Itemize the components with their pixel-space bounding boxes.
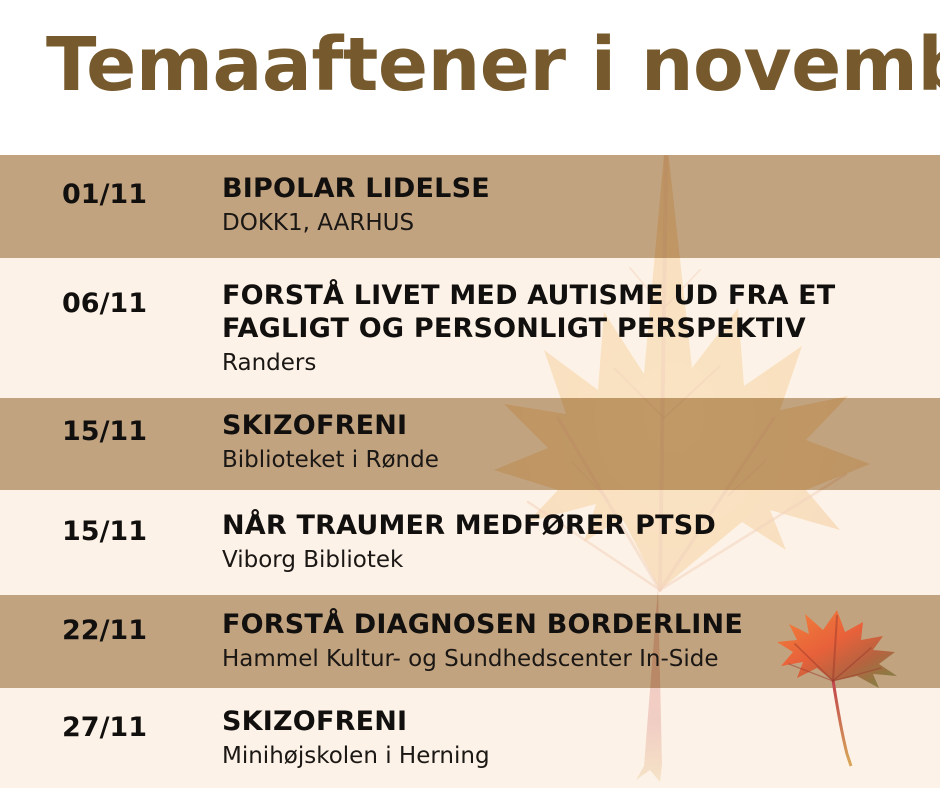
event-title: FORSTÅ LIVET MED AUTISME UD FRA ET FAGLI… (222, 280, 922, 346)
event-venue: Minihøjskolen i Herning (222, 742, 922, 772)
event-title: BIPOLAR LIDELSE (222, 173, 922, 206)
event-title: SKIZOFRENI (222, 706, 922, 739)
event-venue: DOKK1, AARHUS (222, 209, 922, 239)
event-title: NÅR TRAUMER MEDFØRER PTSD (222, 510, 922, 543)
event-date: 01/11 (62, 179, 212, 210)
event-body: FORSTÅ LIVET MED AUTISME UD FRA ET FAGLI… (222, 280, 922, 379)
event-body: SKIZOFRENI Biblioteket i Rønde (222, 410, 922, 476)
event-venue: Randers (222, 349, 922, 379)
event-row[interactable]: 06/11 FORSTÅ LIVET MED AUTISME UD FRA ET… (0, 258, 940, 398)
page-title: Temaaftener i november (46, 28, 940, 102)
event-date: 15/11 (62, 516, 212, 547)
event-row[interactable]: 22/11 FORSTÅ DIAGNOSEN BORDERLINE Hammel… (0, 595, 940, 688)
event-venue: Viborg Bibliotek (222, 546, 922, 576)
event-title: FORSTÅ DIAGNOSEN BORDERLINE (222, 609, 922, 642)
event-body: FORSTÅ DIAGNOSEN BORDERLINE Hammel Kultu… (222, 609, 922, 675)
poster-canvas: Temaaftener i november 01/11 BIPOLAR LID… (0, 0, 940, 788)
event-date: 15/11 (62, 416, 212, 447)
event-row[interactable]: 15/11 SKIZOFRENI Biblioteket i Rønde (0, 398, 940, 490)
event-date: 27/11 (62, 712, 212, 743)
event-venue: Hammel Kultur- og Sundhedscenter In-Side (222, 645, 922, 675)
event-title: SKIZOFRENI (222, 410, 922, 443)
event-body: NÅR TRAUMER MEDFØRER PTSD Viborg Bibliot… (222, 510, 922, 576)
event-body: SKIZOFRENI Minihøjskolen i Herning (222, 706, 922, 772)
event-date: 06/11 (62, 288, 212, 319)
event-date: 22/11 (62, 615, 212, 646)
event-row[interactable]: 01/11 BIPOLAR LIDELSE DOKK1, AARHUS (0, 155, 940, 258)
event-venue: Biblioteket i Rønde (222, 446, 922, 476)
event-body: BIPOLAR LIDELSE DOKK1, AARHUS (222, 173, 922, 239)
event-row[interactable]: 15/11 NÅR TRAUMER MEDFØRER PTSD Viborg B… (0, 490, 940, 595)
content-layer: Temaaftener i november 01/11 BIPOLAR LID… (0, 0, 940, 788)
event-row[interactable]: 27/11 SKIZOFRENI Minihøjskolen i Herning (0, 688, 940, 788)
